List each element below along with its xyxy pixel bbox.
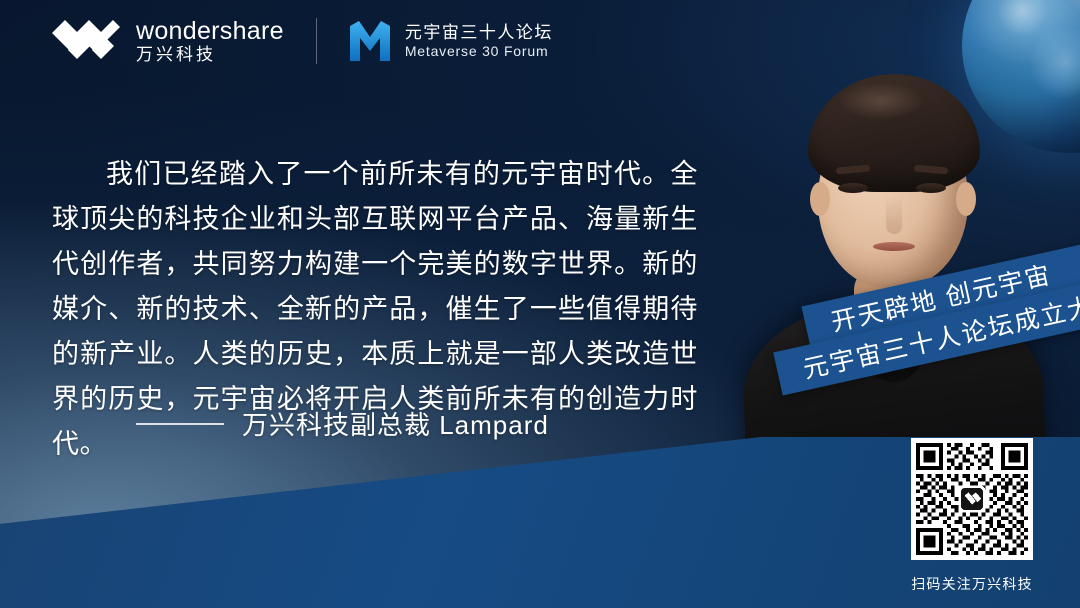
attribution-text: 万兴科技副总裁 Lampard <box>242 405 549 442</box>
wondershare-w-logo-icon <box>52 20 120 62</box>
qr-block[interactable]: 扫码关注万兴科技 <box>908 438 1036 594</box>
metaverse-m-logo-icon <box>349 20 391 62</box>
wondershare-lockup: wondershare 万兴科技 <box>52 19 284 63</box>
metaverse-forum-lockup: 元宇宙三十人论坛 Metaverse 30 Forum <box>349 20 553 62</box>
quote-attribution: 万兴科技副总裁 Lampard <box>136 405 549 442</box>
header-logos: wondershare 万兴科技 元宇宙三十人论坛 <box>52 18 553 64</box>
qr-caption: 扫码关注万兴科技 <box>911 574 1033 594</box>
qr-code-icon[interactable] <box>911 438 1033 560</box>
wondershare-wordmark: wondershare 万兴科技 <box>136 19 284 63</box>
horizontal-rule-icon <box>136 423 224 425</box>
metaverse-wordmark: 元宇宙三十人论坛 Metaverse 30 Forum <box>405 24 553 58</box>
poster-canvas: wondershare 万兴科技 元宇宙三十人论坛 <box>0 0 1080 608</box>
wondershare-name-cn: 万兴科技 <box>136 46 284 63</box>
wondershare-name-en: wondershare <box>136 19 284 44</box>
metaverse-name-en: Metaverse 30 Forum <box>405 44 553 58</box>
metaverse-name-cn: 元宇宙三十人论坛 <box>405 24 553 41</box>
vertical-divider-icon <box>316 18 317 64</box>
